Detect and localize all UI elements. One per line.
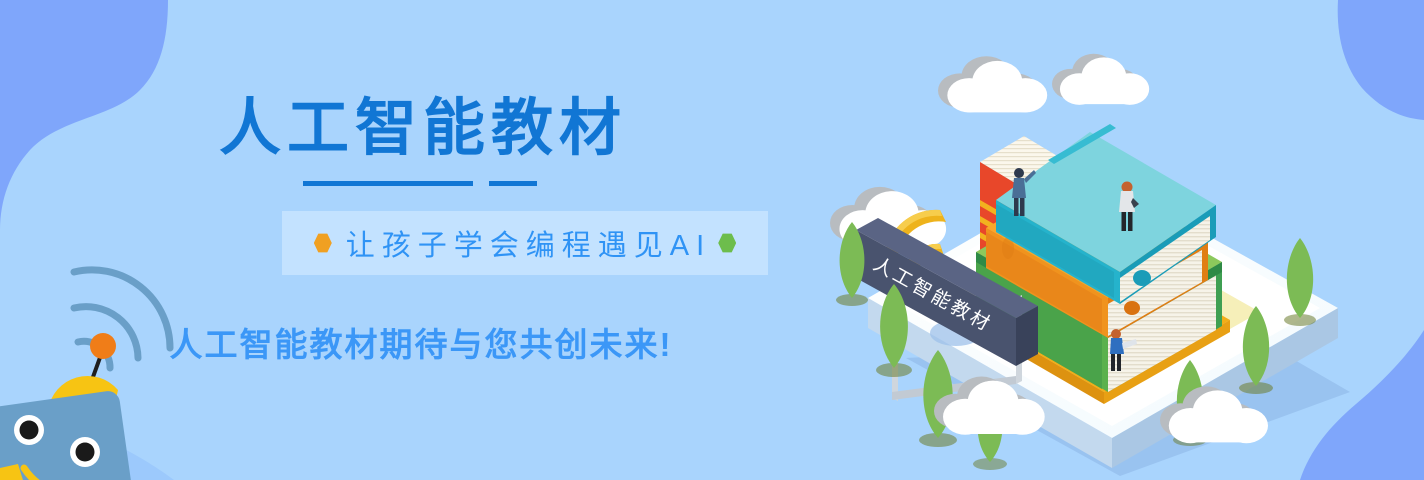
hexagon-bullet-orange-icon xyxy=(314,233,332,253)
cloud-icon xyxy=(938,56,1047,112)
subtitle-text: 让孩子学会编程遇见AI xyxy=(339,222,711,264)
title-divider xyxy=(0,181,840,186)
divider-bar-short xyxy=(489,181,537,186)
page-title: 人工智能教材 xyxy=(0,98,840,160)
tagline-text: 人工智能教材期待与您共创未来! xyxy=(0,318,840,366)
divider-bar-long xyxy=(303,181,473,186)
hexagon-bullet-green-icon xyxy=(718,233,736,253)
headline-block: 人工智能教材 让孩子学会编程遇见AI 人工智能教材期待与您共创未来! xyxy=(0,0,840,480)
isometric-illustration: 人工智能教材 xyxy=(790,40,1424,480)
promo-banner: 人工智能教材 xyxy=(0,0,1424,480)
subtitle-banner: 让孩子学会编程遇见AI xyxy=(282,211,768,275)
cloud-icon xyxy=(1052,54,1149,105)
